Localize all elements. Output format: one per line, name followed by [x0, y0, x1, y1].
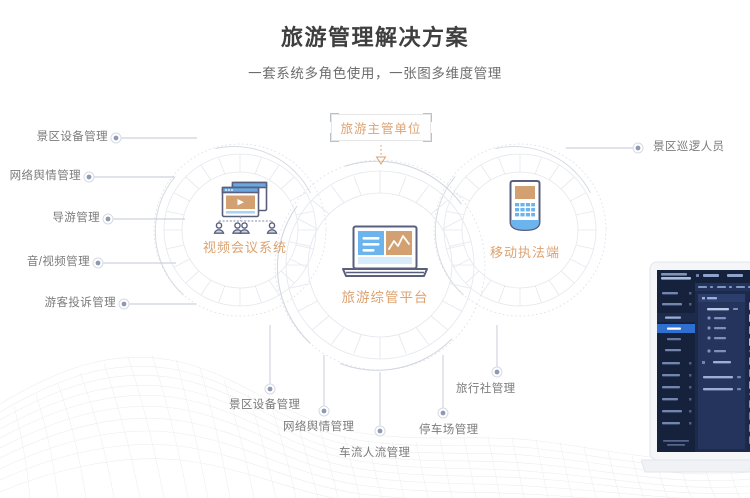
authority-badge[interactable]: 旅游主管单位 — [331, 114, 431, 141]
badge-label: 旅游主管单位 — [331, 114, 431, 141]
connector-label-left-4: 游客投诉管理 — [0, 298, 116, 310]
handheld-terminal-icon — [502, 178, 548, 236]
node-caption-mobile-enforcement: 移动执法端 — [445, 246, 605, 259]
video-conference-icon — [206, 178, 284, 234]
laptop-dashboard-icon — [333, 224, 437, 282]
connector-label-bottom-2: 车流人流管理 — [339, 448, 410, 460]
connector-label-bottom-3: 停车场管理 — [419, 425, 479, 437]
connector-label-right-0: 景区巡逻人员 — [653, 142, 724, 154]
connectors-bottom — [265, 325, 502, 436]
connector-label-bottom-0: 景区设备管理 — [229, 400, 300, 412]
laptop-dashboard-mock — [641, 258, 750, 488]
connector-label-bottom-1: 网络舆情管理 — [283, 422, 354, 434]
connector-label-left-3: 音/视频管理 — [0, 257, 90, 269]
node-mobile-enforcement[interactable]: 移动执法端 — [445, 178, 605, 259]
connector-label-bottom-4: 旅行社管理 — [456, 384, 516, 396]
node-caption-tourism-platform: 旅游综管平台 — [295, 291, 475, 305]
connectors-right — [566, 143, 643, 153]
connector-label-left-0: 景区设备管理 — [0, 132, 108, 144]
connector-label-left-1: 网络舆情管理 — [0, 171, 81, 183]
solution-diagram-page: 旅游管理解决方案 一套系统多角色使用，一张图多维度管理 — [0, 0, 750, 498]
connector-label-left-2: 导游管理 — [0, 213, 100, 225]
